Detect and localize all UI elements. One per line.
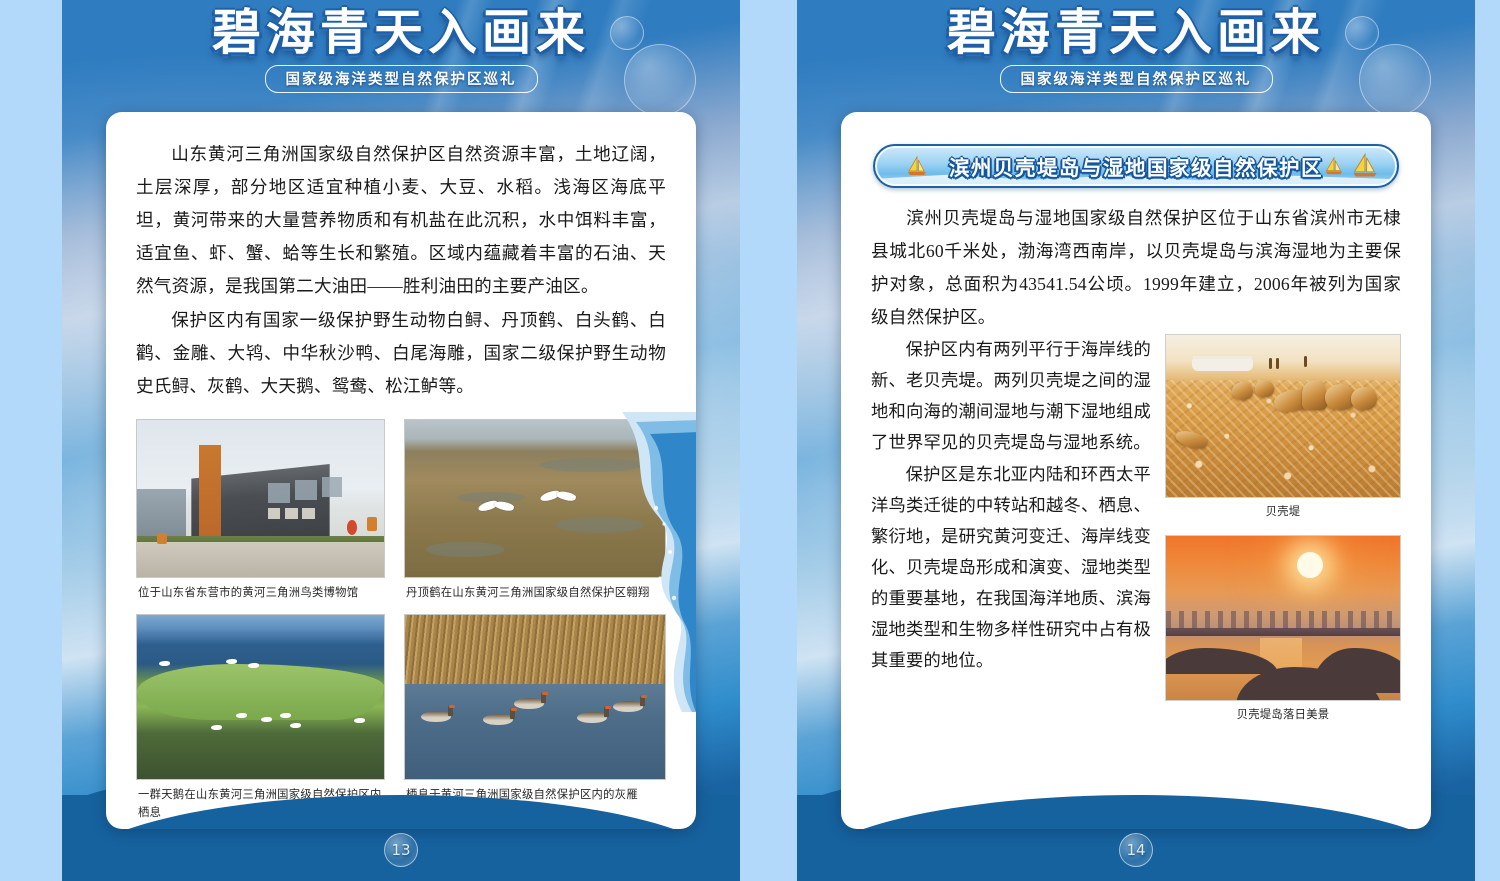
caption-wrap: 位于山东省东营市的黄河三角洲鸟类博物馆: [136, 578, 385, 614]
goose-icon: [483, 710, 517, 725]
crane-bird-icon: [540, 492, 578, 504]
right-media-column: 贝壳堤 贝壳堤岛落日美景: [1165, 334, 1401, 738]
caption-wrap: 栖息于黄河三角洲国家级自然保护区内的灰雁: [404, 780, 666, 816]
sun-icon: [1297, 552, 1323, 578]
red-crowned-crane-photo-caption: 丹顶鹤在山东黄河三角洲国家级自然保护区翱翔: [406, 584, 664, 602]
crane-bird-icon: [478, 502, 516, 514]
caption-wrap: 丹顶鹤在山东黄河三角洲国家级自然保护区翱翔: [404, 578, 666, 614]
left-page-number: 13: [384, 833, 418, 867]
caption-wrap: 一群天鹅在山东黄河三角洲国家级自然保护区内栖息: [136, 780, 385, 829]
right-column-paragraph-2: 保护区是东北亚内陆和环西太平洋鸟类迁徙的中转站和越冬、栖息、繁衍地，是研究黄河变…: [871, 459, 1151, 676]
right-content-area: 滨州贝壳堤岛与湿地国家级自然保护区 滨州贝壳堤岛与湿地国家级自然保护区位于山东省…: [841, 112, 1431, 829]
left-paragraph-2: 保护区内有国家一级保护野生动物白鲟、丹顶鹤、白头鹤、白鹳、金雕、大鸨、中华秋沙鸭…: [136, 304, 666, 403]
right-masthead: 碧海青天入画来 国家级海洋类型自然保护区巡礼: [797, 0, 1475, 104]
shell-island-sunset-photo-caption: 贝壳堤岛落日美景: [1165, 701, 1401, 738]
right-page-number: 14: [1119, 833, 1153, 867]
magazine-spread: 碧海青天入画来 国家级海洋类型自然保护区巡礼 山东黄河三角洲国家级自然保护区自然…: [0, 0, 1500, 881]
sailboat-icon: [1323, 155, 1345, 177]
right-paper-sheet: 滨州贝壳堤岛与湿地国家级自然保护区 滨州贝壳堤岛与湿地国家级自然保护区位于山东省…: [841, 112, 1431, 829]
left-content-area: 山东黄河三角洲国家级自然保护区自然资源丰富，土地辽阔，土层深厚，部分地区适宜种植…: [106, 112, 696, 829]
right-column-paragraph-1: 保护区内有两列平行于海岸线的新、老贝壳堤。两列贝壳堤之间的湿地和向海的潮间湿地与…: [871, 334, 1151, 458]
right-intro-paragraph: 滨州贝壳堤岛与湿地国家级自然保护区位于山东省滨州市无棣县城北60千米处，渤海湾西…: [871, 202, 1401, 334]
photo-cell: 丹顶鹤在山东黄河三角洲国家级自然保护区翱翔: [404, 419, 666, 614]
magazine-title: 碧海青天入画来: [797, 6, 1475, 59]
left-paper-sheet: 山东黄河三角洲国家级自然保护区自然资源丰富，土地辽阔，土层深厚，部分地区适宜种植…: [106, 112, 696, 829]
grey-goose-photo-caption: 栖息于黄河三角洲国家级自然保护区内的灰雁: [406, 786, 664, 804]
photo-cell: 位于山东省东营市的黄河三角洲鸟类博物馆: [136, 419, 385, 614]
museum-photo-caption: 位于山东省东营市的黄河三角洲鸟类博物馆: [138, 584, 383, 602]
magazine-title: 碧海青天入画来: [62, 6, 740, 59]
red-crowned-crane-photo[interactable]: [404, 419, 666, 578]
photo-cell: 一群天鹅在山东黄河三角洲国家级自然保护区内栖息: [136, 614, 385, 829]
section-banner-title: 滨州贝壳堤岛与湿地国家级自然保护区: [949, 151, 1323, 181]
goose-icon: [514, 694, 548, 709]
left-paragraph-1: 山东黄河三角洲国家级自然保护区自然资源丰富，土地辽阔，土层深厚，部分地区适宜种植…: [136, 138, 666, 303]
shell-island-sunset-photo[interactable]: [1165, 535, 1401, 701]
swan-wetland-photo-caption: 一群天鹅在山东黄河三角洲国家级自然保护区内栖息: [138, 786, 383, 822]
grey-goose-photo[interactable]: [404, 614, 666, 780]
swan-wetland-photo[interactable]: [136, 614, 385, 780]
left-photo-grid: 位于山东省东营市的黄河三角洲鸟类博物馆: [136, 419, 666, 829]
right-text-column: 保护区内有两列平行于海岸线的新、老贝壳堤。两列贝壳堤之间的湿地和向海的潮间湿地与…: [871, 334, 1151, 738]
sailboat-icon: [1351, 152, 1379, 180]
sailboat-icon: [905, 154, 929, 178]
magazine-subtitle: 国家级海洋类型自然保护区巡礼: [1000, 65, 1273, 93]
left-page: 碧海青天入画来 国家级海洋类型自然保护区巡礼 山东黄河三角洲国家级自然保护区自然…: [62, 0, 740, 881]
right-two-column-area: 保护区内有两列平行于海岸线的新、老贝壳堤。两列贝壳堤之间的湿地和向海的潮间湿地与…: [871, 334, 1401, 738]
left-masthead: 碧海青天入画来 国家级海洋类型自然保护区巡礼: [62, 0, 740, 104]
section-banner: 滨州贝壳堤岛与湿地国家级自然保护区: [873, 144, 1399, 188]
goose-icon: [613, 697, 647, 712]
museum-photo[interactable]: [136, 419, 385, 578]
photo-cell: 栖息于黄河三角洲国家级自然保护区内的灰雁: [404, 614, 666, 829]
boat-icon: [1192, 359, 1253, 370]
goose-icon: [577, 708, 611, 723]
shell-ridge-photo-caption: 贝壳堤: [1165, 498, 1401, 535]
shell-ridge-photo[interactable]: [1165, 334, 1401, 498]
right-page: 碧海青天入画来 国家级海洋类型自然保护区巡礼 滨州贝壳堤岛与湿地国家级自然保护区: [797, 0, 1475, 881]
magazine-subtitle: 国家级海洋类型自然保护区巡礼: [265, 65, 538, 93]
goose-icon: [421, 707, 455, 722]
